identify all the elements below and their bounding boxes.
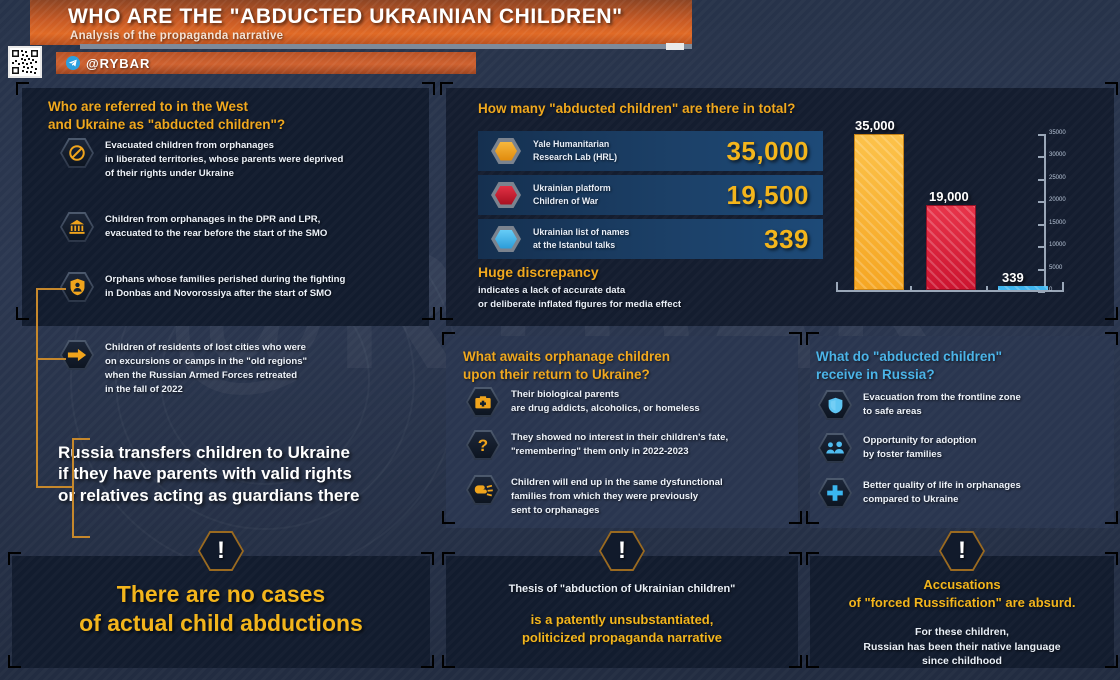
middle-panel-title: What awaits orphanage children upon thei… xyxy=(463,348,783,384)
qr-code-icon xyxy=(8,46,42,78)
header-slider xyxy=(80,44,692,49)
x-tick xyxy=(836,282,838,292)
hexagon-blue-icon xyxy=(491,226,521,252)
stat-value: 339 xyxy=(764,224,809,255)
stat-label: Yale Humanitarian Research Lab (HRL) xyxy=(533,138,617,164)
list-item-label: Evacuated children from orphanages in li… xyxy=(105,138,343,181)
x-tick xyxy=(1062,282,1064,292)
conclusion-3-sub: For these children, Russian has been the… xyxy=(810,625,1114,669)
bar-children-of-war xyxy=(926,205,976,290)
list-item-label: Orphans whose families perished during t… xyxy=(105,272,345,301)
stat-label: Ukrainian platform Children of War xyxy=(533,182,611,208)
list-item-label: Better quality of life in orphanages com… xyxy=(863,478,1021,507)
y-tick-label: 30000 xyxy=(1049,152,1066,158)
right-panel-title: What do "abducted children" receive in R… xyxy=(816,348,1106,384)
hexagon-red-icon xyxy=(491,182,521,208)
shield-person-icon xyxy=(60,272,94,302)
list-item: Children will end up in the same dysfunc… xyxy=(466,475,786,518)
connector-bracket xyxy=(72,438,90,440)
conclusion-2-lead: Thesis of "abduction of Ukrainian childr… xyxy=(446,582,798,597)
list-item-label: Their biological parents are drug addict… xyxy=(511,387,700,416)
bar-istanbul xyxy=(998,286,1048,290)
connector-line xyxy=(36,358,66,360)
bar-label-children-of-war: 19,000 xyxy=(929,189,969,204)
bar-chart: 35000 30000 25000 20000 15000 10000 5000… xyxy=(836,108,1106,300)
stat-row: Yale Humanitarian Research Lab (HRL) 35,… xyxy=(478,131,823,171)
connector-line xyxy=(36,288,66,290)
y-tick-label: 25000 xyxy=(1049,175,1066,181)
stat-row: Ukrainian list of names at the Istanbul … xyxy=(478,219,823,259)
family-icon-row: Opportunity for adoption by foster famil… xyxy=(818,433,1108,463)
y-tick-label: 20000 xyxy=(1049,197,1066,203)
conclusion-2: Thesis of "abduction of Ukrainian childr… xyxy=(446,582,798,646)
question-mark-icon: ? xyxy=(466,430,500,460)
list-item-label: Children from orphanages in the DPR and … xyxy=(105,212,327,241)
bar-label-istanbul: 339 xyxy=(1002,270,1024,285)
list-item: Children of residents of lost cities who… xyxy=(60,340,420,397)
connector-bracket xyxy=(72,536,90,538)
y-tick-label: 5000 xyxy=(1049,265,1062,271)
connector-line xyxy=(36,486,74,488)
y-tick-label: 0 xyxy=(1049,287,1052,293)
bank-building-icon xyxy=(60,212,94,242)
conclusion-1: There are no cases of actual child abduc… xyxy=(12,580,430,638)
y-tick-label: 35000 xyxy=(1049,130,1066,136)
list-item: Better quality of life in orphanages com… xyxy=(818,478,1108,508)
list-item-label: Children of residents of lost cities who… xyxy=(105,340,307,397)
y-tick-label: 10000 xyxy=(1049,242,1066,248)
left-callout-text: Russia transfers children to Ukraine if … xyxy=(58,442,408,506)
stat-label: Ukrainian list of names at the Istanbul … xyxy=(533,226,629,252)
discrepancy-body: indicates a lack of accurate data or del… xyxy=(478,284,818,312)
arrow-right-icon xyxy=(60,340,94,370)
conclusion-3: Accusations of "forced Russification" ar… xyxy=(810,576,1114,669)
stat-row: Ukrainian platform Children of War 19,50… xyxy=(478,175,823,215)
fist-icon xyxy=(466,475,500,505)
stats-panel-title: How many "abducted children" are there i… xyxy=(478,100,878,118)
telegram-icon xyxy=(66,56,80,70)
list-item: Their biological parents are drug addict… xyxy=(466,387,786,417)
family-icon xyxy=(818,433,852,463)
hexagon-orange-icon xyxy=(491,138,521,164)
x-tick xyxy=(910,286,912,292)
rybar-channel-strip[interactable]: @RYBAR xyxy=(56,52,476,74)
page-subtitle: Analysis of the propaganda narrative xyxy=(70,30,283,42)
slider-knob xyxy=(666,43,684,50)
stat-value: 19,500 xyxy=(726,180,809,211)
discrepancy-heading: Huge discrepancy xyxy=(478,264,599,280)
stat-value: 35,000 xyxy=(726,136,809,167)
svg-text:?: ? xyxy=(478,436,488,454)
list-item: Children from orphanages in the DPR and … xyxy=(60,212,420,242)
conclusion-2-headline: is a patently unsubstantiated, politiciz… xyxy=(446,611,798,646)
list-item-label: They showed no interest in their childre… xyxy=(511,430,728,459)
list-item: ? They showed no interest in their child… xyxy=(466,430,786,460)
list-item-label: Children will end up in the same dysfunc… xyxy=(511,475,723,518)
list-item: Evacuated children from orphanages in li… xyxy=(60,138,420,181)
bar-label-yale: 35,000 xyxy=(855,118,895,133)
list-item-label: Opportunity for adoption by foster famil… xyxy=(863,433,977,462)
prohibited-icon xyxy=(60,138,94,168)
connector-bracket xyxy=(72,438,74,538)
page-title: WHO ARE THE "ABDUCTED UKRAINIAN CHILDREN… xyxy=(68,5,623,29)
shield-icon xyxy=(818,390,852,420)
infographic-root: @RYBAR WHO ARE THE "ABDUCTED UKRAINIAN C… xyxy=(0,0,1120,680)
connector-line xyxy=(36,288,38,488)
conclusion-1-headline: There are no cases of actual child abduc… xyxy=(12,580,430,638)
left-panel-title: Who are referred to in the West and Ukra… xyxy=(48,98,418,134)
list-item: Evacuation from the frontline zone to sa… xyxy=(818,390,1108,420)
list-item-label: Evacuation from the frontline zone to sa… xyxy=(863,390,1021,419)
x-tick xyxy=(986,286,988,292)
first-aid-kit-icon xyxy=(466,387,500,417)
chart-x-axis xyxy=(836,290,1064,292)
conclusion-3-headline: Accusations of "forced Russification" ar… xyxy=(810,576,1114,611)
bar-yale xyxy=(854,134,904,290)
left-callout: Russia transfers children to Ukraine if … xyxy=(58,442,408,506)
rybar-handle: @RYBAR xyxy=(86,56,150,71)
plus-cross-icon xyxy=(818,478,852,508)
list-item: Orphans whose families perished during t… xyxy=(60,272,420,302)
y-tick-label: 15000 xyxy=(1049,220,1066,226)
header-bar: WHO ARE THE "ABDUCTED UKRAINIAN CHILDREN… xyxy=(30,0,692,45)
